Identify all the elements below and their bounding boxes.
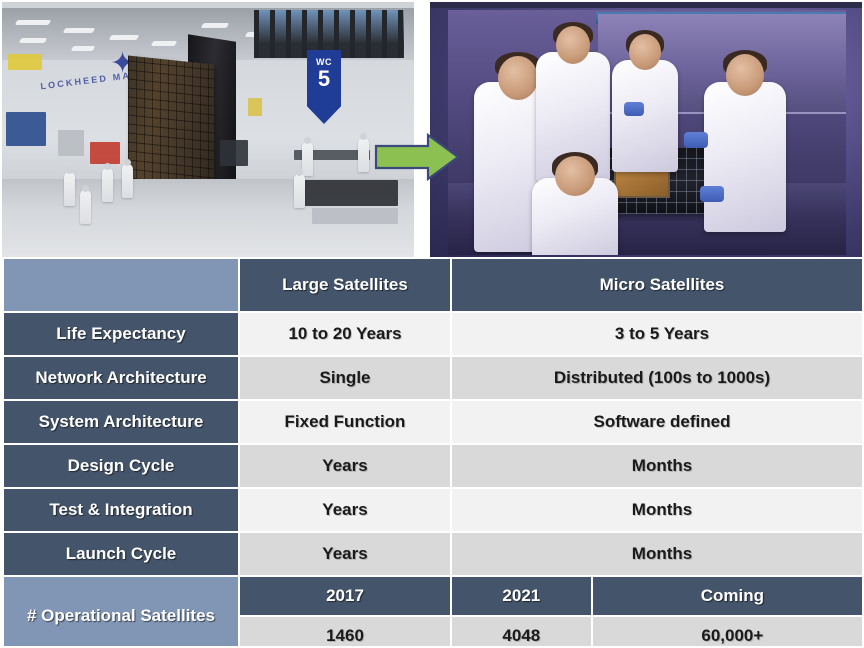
table-row: System Architecture Fixed Function Softw… [4, 401, 864, 443]
table-row: Test & Integration Years Months [4, 489, 864, 531]
cell-micro-life-expectancy: 3 to 5 Years [452, 313, 864, 355]
row-label-test-integration: Test & Integration [4, 489, 238, 531]
cell-micro-test-integration: Months [452, 489, 864, 531]
operational-satellites-years-row: # Operational Satellites 2017 2021 Comin… [4, 577, 864, 615]
row-label-life-expectancy: Life Expectancy [4, 313, 238, 355]
blue-glove-right-upper [684, 132, 708, 148]
row-label-launch-cycle: Launch Cycle [4, 533, 238, 575]
table-row: Life Expectancy 10 to 20 Years 3 to 5 Ye… [4, 313, 864, 355]
technician-right [704, 82, 786, 232]
ops-year-2017: 2017 [240, 577, 450, 615]
header-large-satellites: Large Satellites [240, 259, 450, 311]
cell-micro-system-architecture: Software defined [452, 401, 864, 443]
large-satellite-cleanroom-photo: ✦ LOCKHEED MARTIN WC 5 [2, 2, 414, 257]
table-row: Launch Cycle Years Months [4, 533, 864, 575]
table-row: Network Architecture Single Distributed … [4, 357, 864, 399]
ops-year-2021: 2021 [452, 577, 591, 615]
satellite-comparison-table: Large Satellites Micro Satellites Life E… [2, 257, 864, 648]
blue-glove-center [624, 102, 644, 116]
microsatellite-lab-photo [430, 2, 864, 257]
row-label-system-architecture: System Architecture [4, 401, 238, 443]
technician-foreground [532, 178, 618, 255]
header-micro-satellites: Micro Satellites [452, 259, 864, 311]
row-label-operational-satellites: # Operational Satellites [4, 577, 238, 648]
cell-micro-network-architecture: Distributed (100s to 1000s) [452, 357, 864, 399]
ops-count-2017: 1460 [240, 617, 450, 648]
ops-count-coming: 60,000+ [593, 617, 864, 648]
technician-center [612, 60, 678, 172]
slide-root: ✦ LOCKHEED MARTIN WC 5 [0, 0, 864, 648]
cell-large-test-integration: Years [240, 489, 450, 531]
cell-large-system-architecture: Fixed Function [240, 401, 450, 443]
header-blank-cell [4, 259, 238, 311]
cell-large-launch-cycle: Years [240, 533, 450, 575]
ops-count-2021: 4048 [452, 617, 591, 648]
cell-large-network-architecture: Single [240, 357, 450, 399]
cell-large-design-cycle: Years [240, 445, 450, 487]
row-label-design-cycle: Design Cycle [4, 445, 238, 487]
table-row: Design Cycle Years Months [4, 445, 864, 487]
photo-band: ✦ LOCKHEED MARTIN WC 5 [2, 2, 864, 257]
lab-scene [448, 10, 846, 255]
table-header-row: Large Satellites Micro Satellites [4, 259, 864, 311]
transition-arrow-icon [374, 132, 460, 182]
cell-micro-design-cycle: Months [452, 445, 864, 487]
blue-glove-right-lower [700, 186, 724, 202]
row-label-network-architecture: Network Architecture [4, 357, 238, 399]
work-cell-number: 5 [307, 67, 341, 91]
cell-micro-launch-cycle: Months [452, 533, 864, 575]
ops-year-coming: Coming [593, 577, 864, 615]
cell-large-life-expectancy: 10 to 20 Years [240, 313, 450, 355]
